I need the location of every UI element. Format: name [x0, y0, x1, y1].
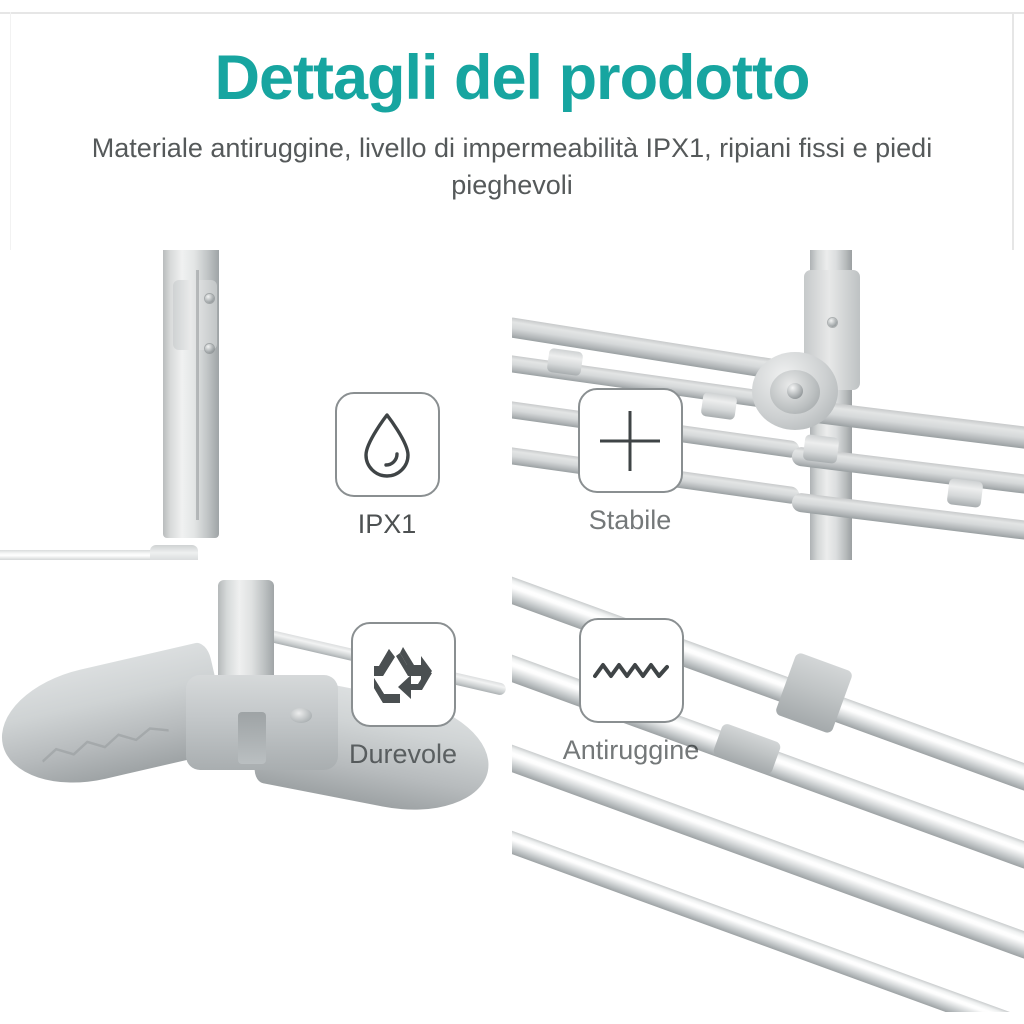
- product-details-infographic: Dettagli del prodotto Materiale antirugg…: [0, 0, 1024, 1024]
- feature-badge-durevole[interactable]: Durevole: [318, 622, 488, 770]
- foot-hub-hole: [290, 708, 312, 723]
- plus-cross-icon: [598, 409, 662, 473]
- screw-icon: [205, 294, 214, 303]
- header: Dettagli del prodotto Materiale antirugg…: [0, 44, 1024, 205]
- water-drop-icon: [356, 410, 418, 480]
- foot-hub-slot: [238, 712, 266, 764]
- badge-frame-durevole: [351, 622, 456, 727]
- frame-top-line: [0, 12, 1024, 14]
- post-mount-lug: [173, 280, 217, 350]
- badge-frame-antiruggine: [579, 618, 684, 723]
- hinge-bolt: [787, 383, 803, 399]
- feature-badge-antiruggine[interactable]: Antiruggine: [546, 618, 716, 766]
- feature-badge-ipx1[interactable]: IPX1: [302, 392, 472, 540]
- badge-label-durevole: Durevole: [318, 739, 488, 770]
- bar-collar: [803, 434, 840, 464]
- screw-icon: [828, 318, 837, 327]
- recycle-icon: [370, 644, 436, 706]
- screw-icon: [205, 344, 214, 353]
- page-title: Dettagli del prodotto: [0, 44, 1024, 112]
- badge-label-antiruggine: Antiruggine: [546, 735, 716, 766]
- badge-frame-stabile: [578, 388, 683, 493]
- page-subtitle: Materiale antiruggine, livello di imperm…: [72, 130, 952, 205]
- zigzag-wave-icon: [593, 658, 669, 684]
- badge-label-stabile: Stabile: [545, 505, 715, 536]
- rod-end-cap: [150, 545, 198, 560]
- feature-badge-stabile[interactable]: Stabile: [545, 388, 715, 536]
- bar-collar: [947, 478, 984, 508]
- photo-grid: [0, 250, 1024, 1012]
- post-seam: [196, 270, 199, 520]
- badge-label-ipx1: IPX1: [302, 509, 472, 540]
- bar-collar: [546, 348, 583, 376]
- badge-frame-ipx1: [335, 392, 440, 497]
